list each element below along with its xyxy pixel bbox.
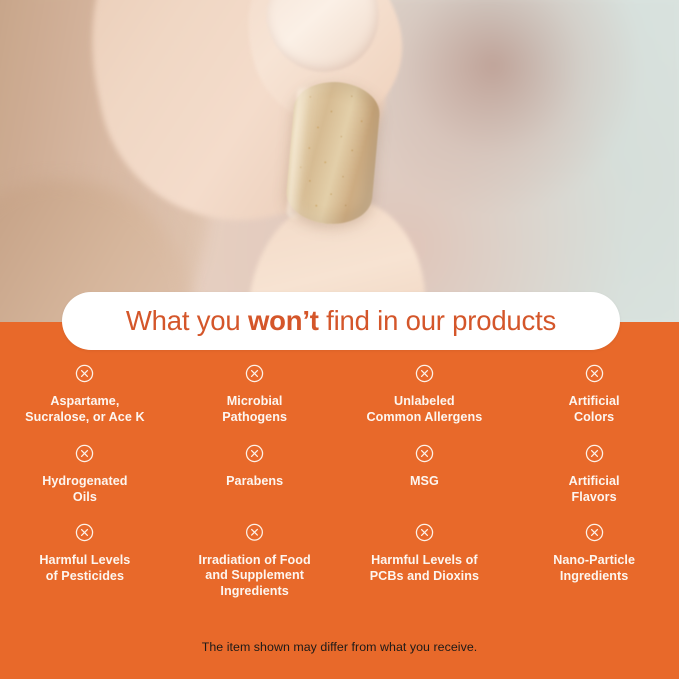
exclusion-item-microbial-pathogens: Microbial Pathogens — [170, 364, 340, 444]
exclusion-label: Parabens — [226, 474, 283, 490]
exclusion-label: Aspartame, Sucralose, or Ace K — [25, 394, 144, 425]
page-title: What you won’t find in our products — [126, 305, 556, 337]
exclusions-grid: Aspartame, Sucralose, or Ace K Microbial… — [0, 364, 679, 599]
product-photo — [0, 0, 679, 322]
exclusion-label: Harmful Levels of Pesticides — [39, 553, 130, 584]
exclusion-label: Unlabeled Common Allergens — [366, 394, 482, 425]
circle-x-icon — [245, 364, 264, 383]
exclusion-item-pesticides: Harmful Levels of Pesticides — [0, 523, 170, 599]
circle-x-icon — [585, 444, 604, 463]
exclusion-label: MSG — [410, 474, 439, 490]
circle-x-icon — [585, 364, 604, 383]
grid-row: Hydrogenated Oils Parabens MSG Artificia… — [0, 444, 679, 523]
headline-pill: What you won’t find in our products — [62, 292, 620, 350]
exclusion-item-nano-particle: Nano-Particle Ingredients — [509, 523, 679, 599]
exclusion-label: Artificial Colors — [569, 394, 620, 425]
circle-x-icon — [415, 444, 434, 463]
exclusion-item-hydrogenated-oils: Hydrogenated Oils — [0, 444, 170, 523]
circle-x-icon — [75, 364, 94, 383]
exclusion-item-aspartame: Aspartame, Sucralose, or Ace K — [0, 364, 170, 444]
circle-x-icon — [245, 523, 264, 542]
exclusion-item-parabens: Parabens — [170, 444, 340, 523]
grid-row: Aspartame, Sucralose, or Ace K Microbial… — [0, 364, 679, 444]
headline-emphasis: won’t — [248, 305, 319, 336]
exclusion-label: Microbial Pathogens — [222, 394, 287, 425]
circle-x-icon — [75, 444, 94, 463]
exclusion-label: Hydrogenated Oils — [42, 474, 127, 505]
grid-row: Harmful Levels of Pesticides Irradiation… — [0, 523, 679, 599]
exclusion-item-msg: MSG — [340, 444, 510, 523]
circle-x-icon — [585, 523, 604, 542]
disclaimer-text: The item shown may differ from what you … — [0, 640, 679, 654]
headline-part-1: What you — [126, 305, 248, 336]
exclusion-item-pcbs-dioxins: Harmful Levels of PCBs and Dioxins — [340, 523, 510, 599]
circle-x-icon — [75, 523, 94, 542]
exclusion-label: Nano-Particle Ingredients — [553, 553, 635, 584]
exclusion-item-irradiation: Irradiation of Food and Supplement Ingre… — [170, 523, 340, 599]
circle-x-icon — [415, 523, 434, 542]
exclusion-label: Artificial Flavors — [569, 474, 620, 505]
headline-part-2: find in our products — [319, 305, 556, 336]
circle-x-icon — [415, 364, 434, 383]
exclusion-label: Irradiation of Food and Supplement Ingre… — [199, 553, 311, 600]
product-infographic: What you won’t find in our products Aspa… — [0, 0, 679, 679]
exclusion-item-unlabeled-allergens: Unlabeled Common Allergens — [340, 364, 510, 444]
exclusion-label: Harmful Levels of PCBs and Dioxins — [370, 553, 479, 584]
exclusion-item-artificial-colors: Artificial Colors — [509, 364, 679, 444]
exclusion-item-artificial-flavors: Artificial Flavors — [509, 444, 679, 523]
circle-x-icon — [245, 444, 264, 463]
